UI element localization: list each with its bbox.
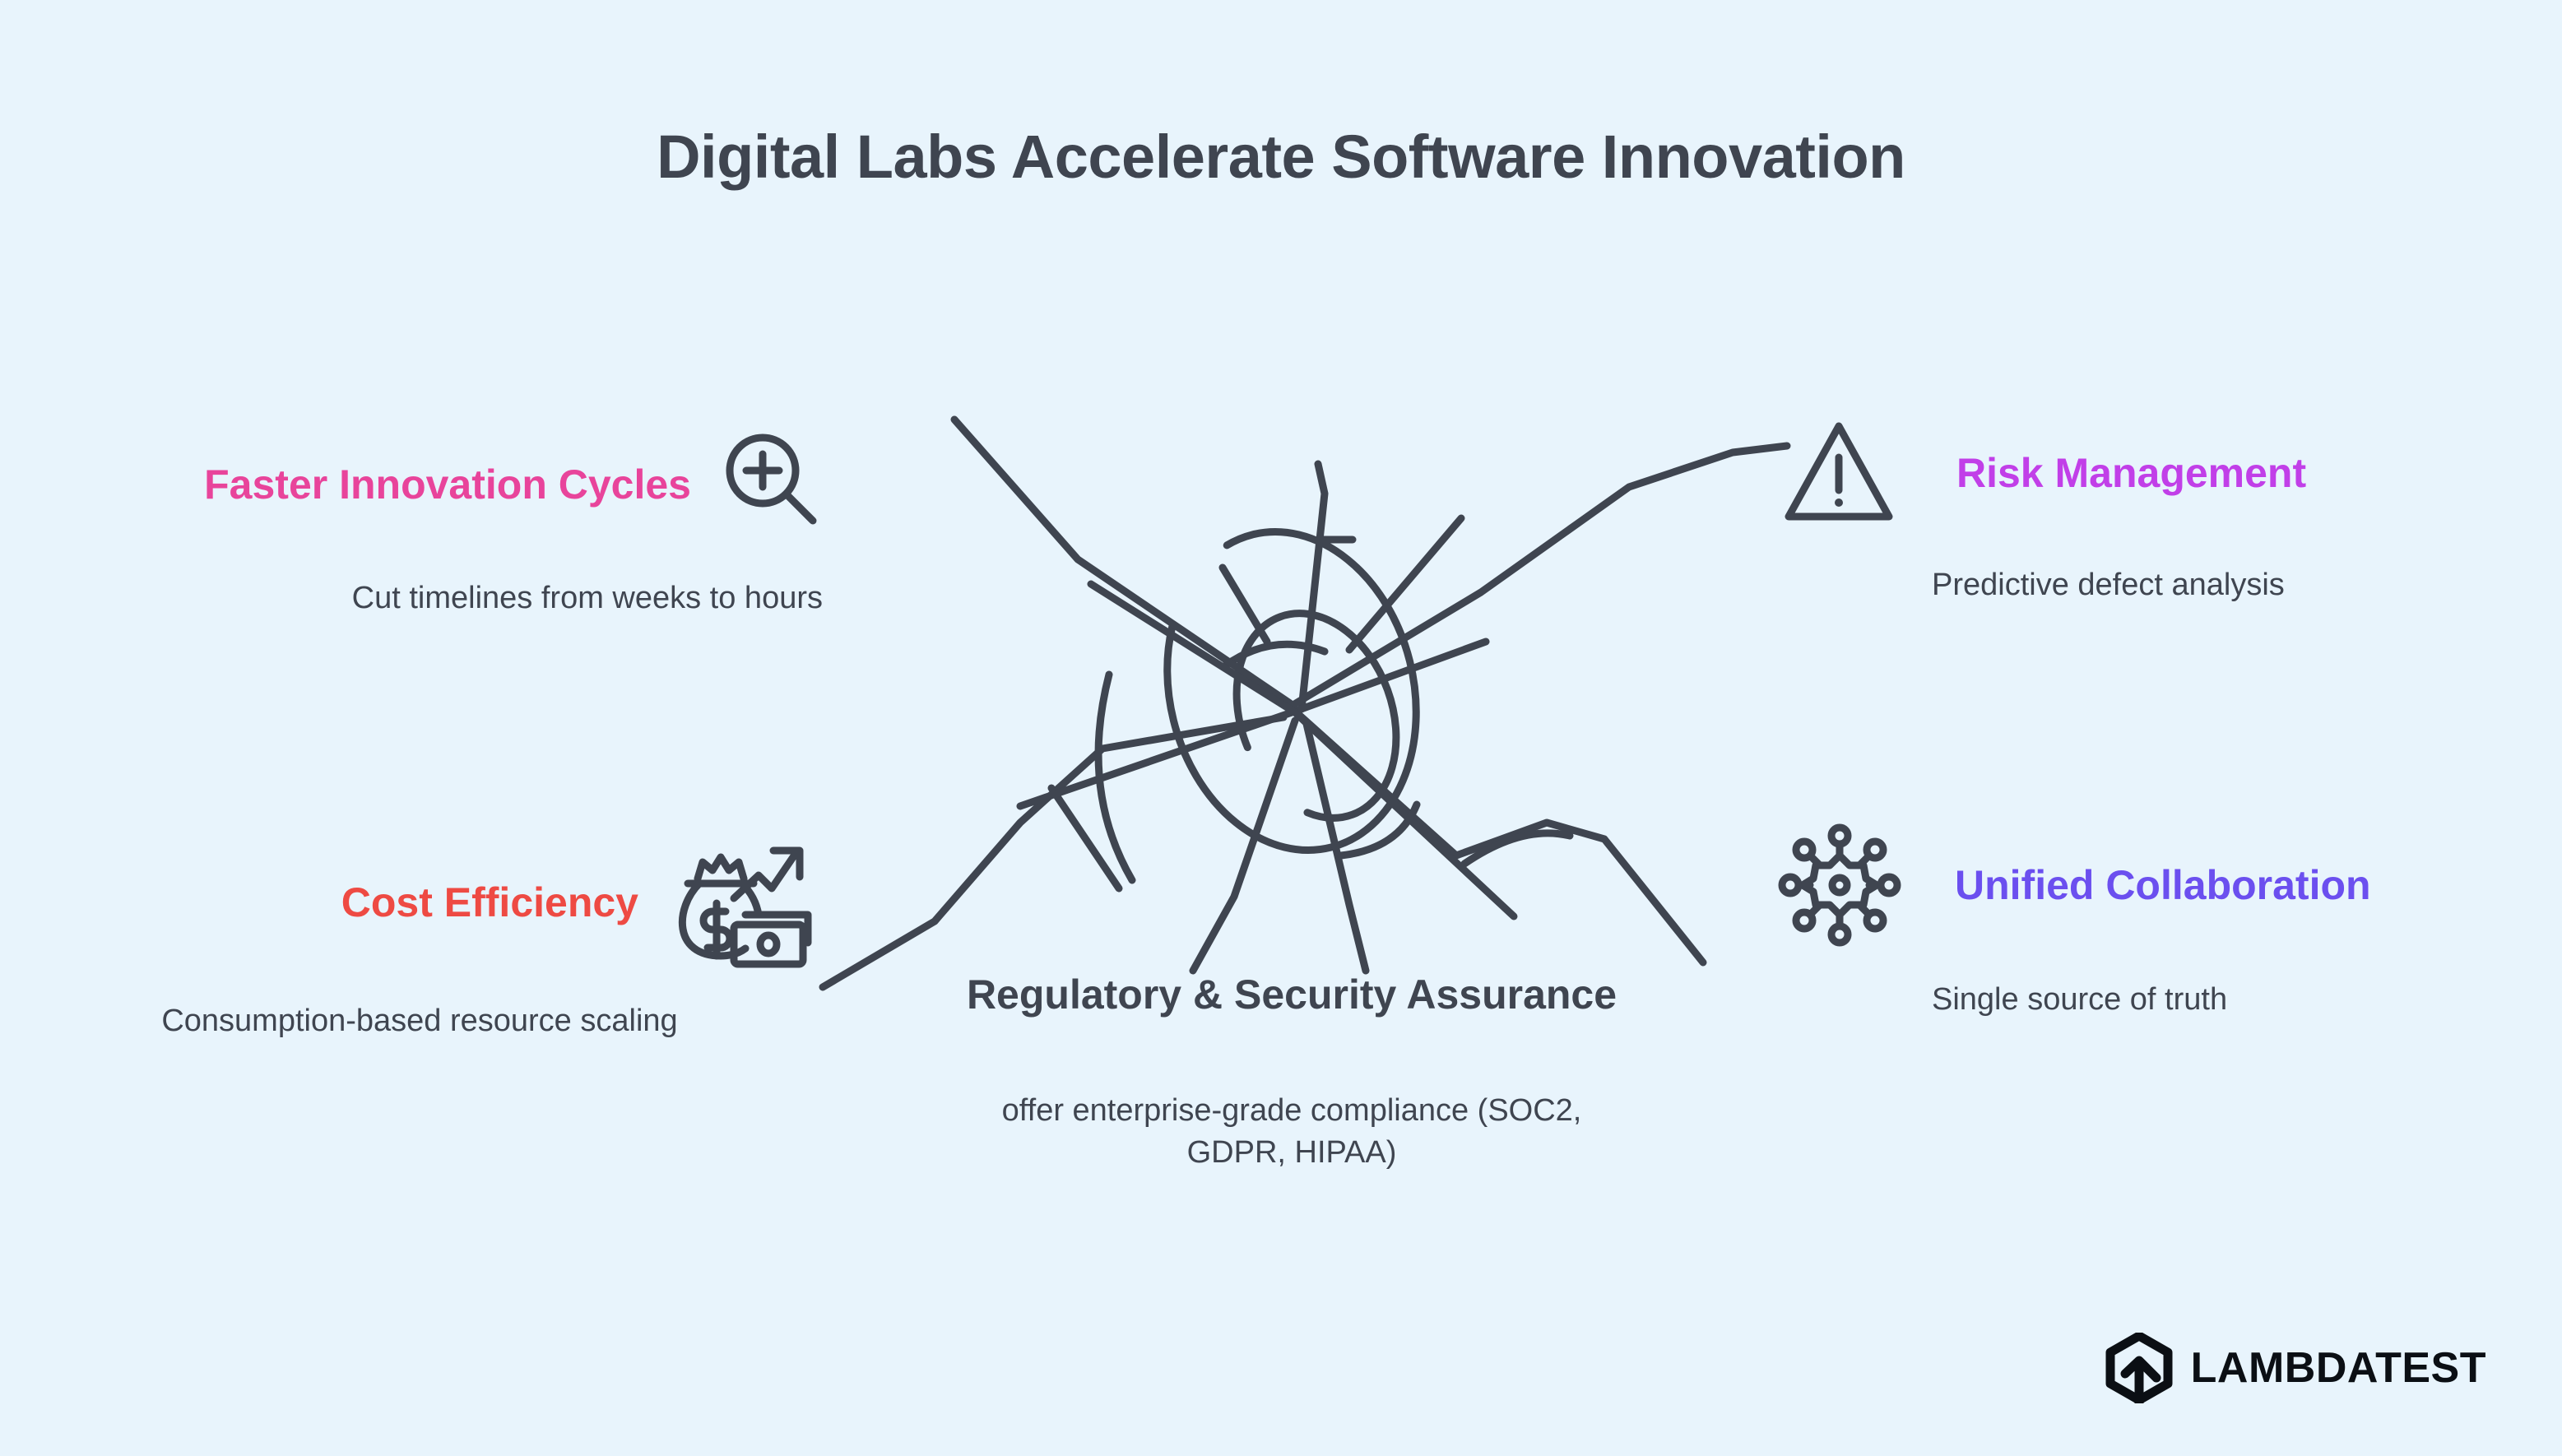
center-illustration xyxy=(773,395,1859,1020)
feature-unified-collaboration: Unified Collaboration Single source of t… xyxy=(1777,823,2518,1020)
feature-title: Risk Management xyxy=(1956,450,2417,496)
feature-description: Predictive defect analysis xyxy=(1932,564,2393,605)
feature-faster-innovation-cycles: Faster Innovation Cycles Cut timelines f… xyxy=(82,428,823,619)
center-description: offer enterprise-grade compliance (SOC2,… xyxy=(930,1090,1654,1175)
lambdatest-logo: LAMBDATEST xyxy=(2105,1333,2486,1403)
warning-triangle-icon xyxy=(1777,411,1901,535)
feature-risk-management: Risk Management Predictive defect analys… xyxy=(1777,411,2501,605)
feature-header: Cost Efficiency xyxy=(99,832,823,972)
magnifier-plus-icon xyxy=(716,428,823,535)
feature-title: Unified Collaboration xyxy=(1955,862,2432,908)
abstract-converging-lines-sketch xyxy=(773,395,1859,1020)
feature-title: Faster Innovation Cycles xyxy=(165,461,691,508)
center-caption-block: Regulatory & Security Assurance offer en… xyxy=(930,971,1654,1175)
infographic-canvas: Digital Labs Accelerate Software Innovat… xyxy=(0,0,2562,1456)
lambdatest-hexagon-arrow-icon xyxy=(2105,1333,2173,1403)
page-title: Digital Labs Accelerate Software Innovat… xyxy=(0,122,2562,192)
feature-description: Single source of truth xyxy=(1932,979,2442,1020)
feature-cost-efficiency: Cost Efficiency xyxy=(99,832,823,1041)
center-title: Regulatory & Security Assurance xyxy=(930,971,1654,1019)
feature-title: Cost Efficiency xyxy=(153,879,638,925)
money-bag-growth-icon xyxy=(666,832,823,972)
feature-description: Consumption-based resource scaling xyxy=(132,1000,708,1041)
network-hub-icon xyxy=(1777,823,1902,948)
feature-header: Faster Innovation Cycles xyxy=(82,428,823,541)
lambdatest-wordmark: LAMBDATEST xyxy=(2191,1343,2486,1393)
feature-description: Cut timelines from weeks to hours xyxy=(197,577,823,619)
feature-header: Unified Collaboration xyxy=(1777,823,2518,948)
feature-header: Risk Management xyxy=(1777,411,2501,535)
